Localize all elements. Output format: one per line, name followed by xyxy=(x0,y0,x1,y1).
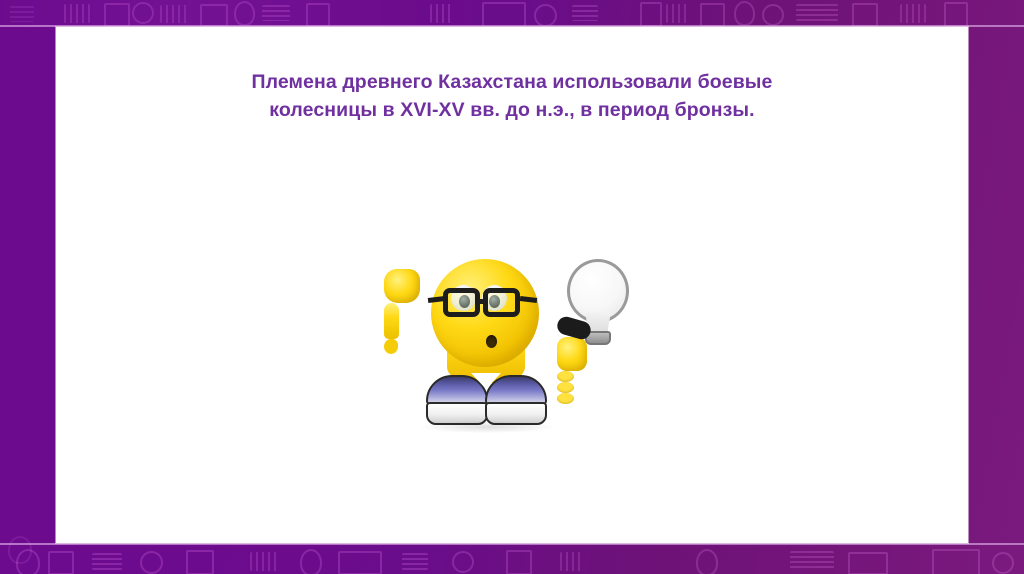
holding-hand-icon xyxy=(557,319,595,361)
left-doodle-band xyxy=(0,0,56,574)
slide-content-card: Племена древнего Казахстана использовали… xyxy=(56,27,968,543)
glasses-lens-left-icon xyxy=(443,288,480,317)
sneaker-right-icon xyxy=(485,375,547,425)
bottom-divider-rule xyxy=(0,543,1024,545)
top-band-sheen xyxy=(0,0,420,27)
right-doodle-band xyxy=(968,0,1024,574)
smiley-mouth xyxy=(486,335,497,348)
glasses-bridge-icon xyxy=(478,299,486,304)
nerd-smiley-lightbulb-icon xyxy=(379,255,647,437)
slide-heading: Племена древнего Казахстана использовали… xyxy=(116,69,908,124)
top-doodle-band xyxy=(0,0,1024,27)
smiley-drop-shadow xyxy=(419,421,555,433)
sneaker-left-icon xyxy=(426,375,488,425)
pointing-finger-icon xyxy=(384,269,424,331)
slide-canvas: Племена древнего Казахстана использовали… xyxy=(0,0,1024,574)
bottom-doodle-band xyxy=(0,543,1024,574)
glasses-lens-right-icon xyxy=(483,288,520,317)
